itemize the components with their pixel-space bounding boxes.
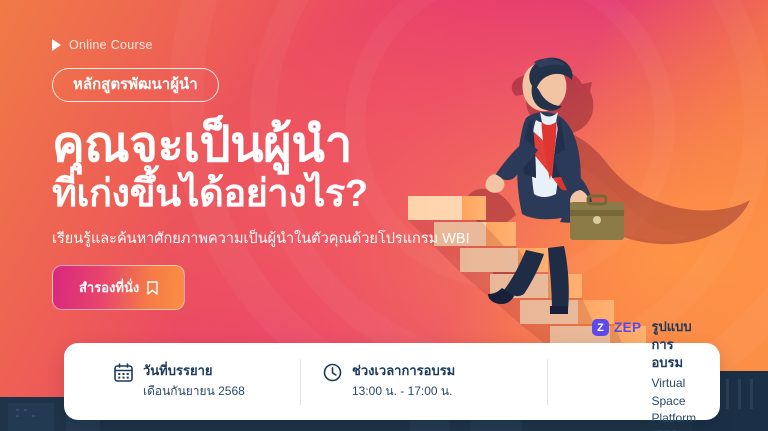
heading-line-1: คุณจะเป็นผู้นำ <box>52 118 352 172</box>
detail-text: ช่วงเวลาการอบรม 13:00 น. - 17:00 น. <box>352 362 455 400</box>
detail-item-date: วันที่บรรยาย เดือนกันยายน 2568 <box>68 362 300 400</box>
subtitle: เรียนรู้และค้นหาศักยภาพความเป็นผู้นำในตั… <box>52 230 472 249</box>
play-icon <box>52 39 61 51</box>
course-details-card: วันที่บรรยาย เดือนกันยายน 2568 ช่วงเวลาก… <box>64 343 720 420</box>
bookmark-icon <box>147 281 158 295</box>
zep-wordmark: ZEP <box>614 320 641 335</box>
calendar-icon <box>114 362 133 387</box>
detail-value: เดือนกันยายน 2568 <box>143 383 245 400</box>
detail-title: วันที่บรรยาย <box>143 363 213 378</box>
detail-text: วันที่บรรยาย เดือนกันยายน 2568 <box>143 362 245 400</box>
detail-value: 13:00 น. - 17:00 น. <box>352 383 455 400</box>
course-badge: หลักสูตรพัฒนาผู้นำ <box>52 68 219 102</box>
detail-title: รูปแบบการอบรม <box>651 319 691 370</box>
reserve-seat-button[interactable]: สำรองที่นั่ง <box>52 265 185 310</box>
detail-title: ช่วงเวลาการอบรม <box>352 363 455 378</box>
detail-text: รูปแบบการอบรม Virtual Space Platform (ZE… <box>651 318 700 431</box>
detail-item-platform: Z ZEP รูปแบบการอบรม Virtual Space Platfo… <box>548 318 716 431</box>
reserve-seat-label: สำรองที่นั่ง <box>79 277 139 298</box>
detail-value: Virtual Space Platform (ZEP) <box>651 375 700 431</box>
detail-item-time: ช่วงเวลาการอบรม 13:00 น. - 17:00 น. <box>301 362 547 400</box>
banner-content: Online Course หลักสูตรพัฒนาผู้นำ คุณจะเป… <box>52 38 472 310</box>
page-title: คุณจะเป็นผู้นำ ที่เก่งขึ้นได้อย่างไร? <box>52 120 472 214</box>
clock-icon <box>323 362 342 387</box>
zep-mark: Z <box>592 319 609 336</box>
eyebrow-label: Online Course <box>52 38 472 52</box>
eyebrow-text: Online Course <box>69 38 153 52</box>
course-promo-banner: Online Course หลักสูตรพัฒนาผู้นำ คุณจะเป… <box>0 0 768 431</box>
heading-line-2: ที่เก่งขึ้นได้อย่างไร? <box>52 174 472 214</box>
zep-logo-icon: Z ZEP <box>592 318 641 336</box>
